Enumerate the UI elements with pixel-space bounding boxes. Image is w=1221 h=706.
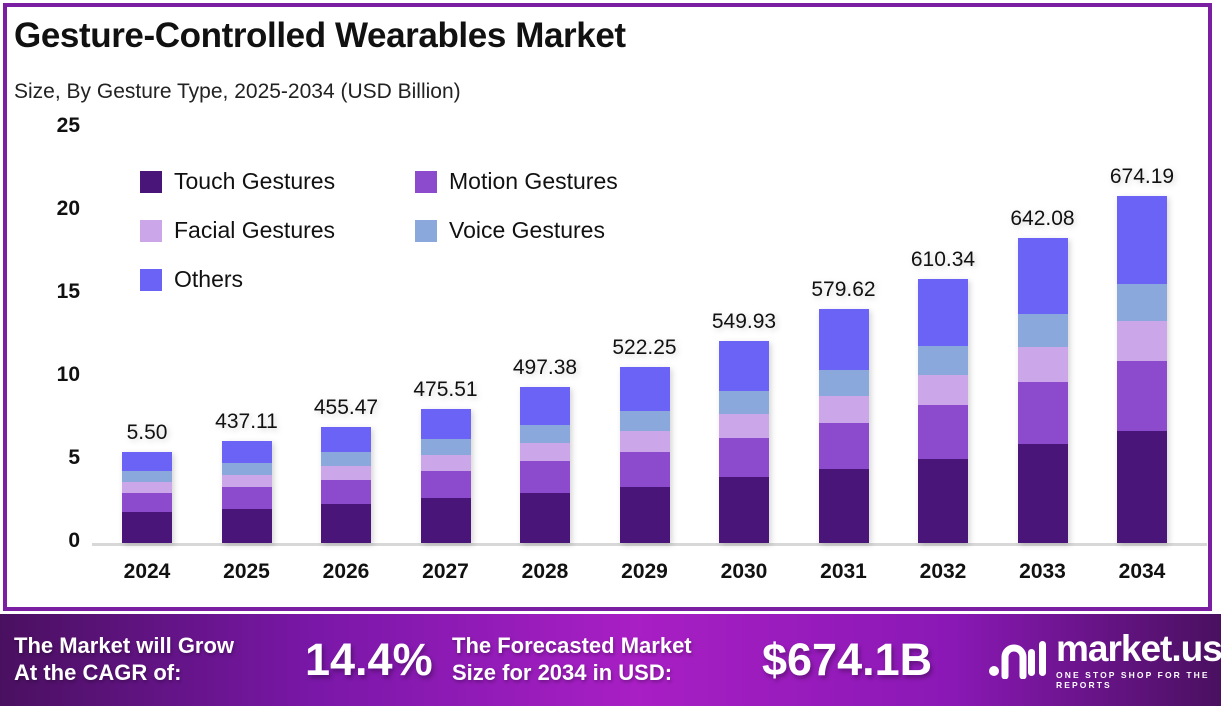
logo-name: market.us [1056,628,1221,669]
bar-segment [421,439,471,455]
bar-segment [620,431,670,452]
legend-row: Touch Gestures Motion Gestures [140,168,700,195]
bar-segment [122,482,172,494]
bar-value-label: 455.47 [314,396,378,420]
bar-segment [122,512,172,543]
x-axis-tick: 2032 [888,560,998,584]
forecast-label: The Forecasted Market Size for 2034 in U… [452,633,692,687]
bar-segment [1018,382,1068,444]
bar-segment [819,469,869,543]
bar-segment [421,409,471,440]
cagr-label-line2: At the CAGR of: [14,660,234,687]
legend-swatch-icon [415,171,437,193]
legend-item-motion-gestures[interactable]: Motion Gestures [415,168,618,195]
bar-segment [719,438,769,478]
bar-value-label: 475.51 [413,378,477,402]
bar-segment [421,498,471,543]
bar-segment [520,387,570,425]
legend-swatch-icon [140,220,162,242]
chart-legend: Touch Gestures Motion Gestures Facial Ge… [140,168,700,315]
bar-value-label: 674.19 [1110,165,1174,189]
bar-value-label: 497.38 [513,356,577,380]
bar-segment [321,504,371,543]
bar-segment [620,452,670,488]
bar-segment [222,509,272,543]
bar-segment [719,341,769,392]
bar-segment [620,487,670,543]
legend-swatch-icon [415,220,437,242]
x-axis-tick: 2033 [988,560,1098,584]
bar-segment [520,461,570,493]
legend-label: Facial Gestures [174,217,335,244]
x-axis-tick: 2031 [789,560,899,584]
bar-segment [222,487,272,509]
bar-stack[interactable]: 610.34 [918,279,968,543]
bar-value-label: 549.93 [712,310,776,334]
bar-segment [1117,321,1167,361]
legend-item-touch-gestures[interactable]: Touch Gestures [140,168,415,195]
legend-row: Facial Gestures Voice Gestures [140,217,700,244]
bar-value-label: 642.08 [1010,207,1074,231]
bar-segment [222,441,272,463]
legend-label: Motion Gestures [449,168,618,195]
cagr-value: 14.4% [305,634,433,686]
legend-item-facial-gestures[interactable]: Facial Gestures [140,217,415,244]
bar-stack[interactable]: 475.51 [421,409,471,543]
bar-value-label: 5.50 [127,421,168,445]
bar-segment [918,459,968,543]
bar-segment [520,425,570,442]
bar-segment [321,466,371,480]
x-axis-tick: 2026 [291,560,401,584]
logo-tagline: ONE STOP SHOP FOR THE REPORTS [1056,670,1221,690]
bar-stack[interactable]: 549.93 [719,341,769,543]
bar-segment [918,405,968,459]
bar-segment [520,443,570,461]
bar-segment [918,346,968,375]
forecast-label-line2: Size for 2034 in USD: [452,660,692,687]
bar-segment [122,493,172,512]
legend-row: Others [140,266,700,293]
y-axis-tick: 10 [20,363,80,387]
bar-stack[interactable]: 5.50 [122,452,172,543]
bar-segment [918,279,968,346]
market-us-logo-text: market.us ONE STOP SHOP FOR THE REPORTS [1056,630,1221,690]
bar-value-label: 610.34 [911,248,975,272]
bar-segment [620,367,670,411]
bar-segment [1018,347,1068,382]
x-axis-tick: 2034 [1087,560,1197,584]
bar-segment [122,471,172,482]
y-axis-tick: 20 [20,197,80,221]
bar-segment [719,414,769,437]
bar-segment [222,463,272,475]
legend-label: Touch Gestures [174,168,335,195]
y-axis-tick: 5 [20,446,80,470]
bar-segment [1117,361,1167,431]
x-axis-tick: 2024 [92,560,202,584]
bar-segment [1018,444,1068,543]
y-axis-tick: 15 [20,280,80,304]
legend-label: Voice Gestures [449,217,605,244]
legend-item-voice-gestures[interactable]: Voice Gestures [415,217,605,244]
market-us-logo[interactable]: market.us ONE STOP SHOP FOR THE REPORTS [988,630,1221,690]
cagr-label: The Market will Grow At the CAGR of: [14,633,234,687]
legend-swatch-icon [140,171,162,193]
bar-stack[interactable]: 437.11 [222,441,272,543]
bar-stack[interactable]: 642.08 [1018,238,1068,543]
bar-segment [719,391,769,414]
bar-stack[interactable]: 455.47 [321,427,371,543]
legend-item-others[interactable]: Others [140,266,415,293]
forecast-value: $674.1B [762,634,932,686]
y-axis-tick: 0 [20,529,80,553]
bar-segment [1018,314,1068,347]
bar-value-label: 579.62 [811,278,875,302]
x-axis-tick: 2027 [391,560,501,584]
bar-segment [421,455,471,471]
chart-infographic: Gesture-Controlled Wearables Market Size… [0,0,1221,706]
bar-segment [321,480,371,504]
bar-stack[interactable]: 522.25 [620,367,670,543]
bar-segment [1117,431,1167,543]
bar-segment [819,423,869,469]
x-axis-line [92,543,1207,546]
x-axis-tick: 2030 [689,560,799,584]
bar-value-label: 522.25 [612,336,676,360]
y-axis-tick: 25 [20,114,80,138]
bar-segment [122,452,172,471]
bar-stack[interactable]: 579.62 [819,309,869,543]
bar-stack[interactable]: 674.19 [1117,196,1167,543]
bar-segment [719,477,769,543]
legend-swatch-icon [140,269,162,291]
bar-segment [1117,196,1167,284]
bar-segment [1018,238,1068,314]
bar-segment [620,411,670,431]
bar-segment [520,493,570,543]
bar-value-label: 437.11 [215,410,278,434]
bar-segment [222,475,272,487]
bar-segment [321,452,371,466]
x-axis-tick: 2025 [192,560,302,584]
legend-label: Others [174,266,243,293]
bar-segment [1117,284,1167,321]
bar-stack[interactable]: 497.38 [520,387,570,543]
bar-segment [421,471,471,498]
bar-segment [321,427,371,452]
bar-segment [819,370,869,396]
footer-banner: The Market will Grow At the CAGR of: 14.… [0,614,1221,706]
bar-segment [918,375,968,405]
x-axis-tick: 2029 [590,560,700,584]
forecast-label-line1: The Forecasted Market [452,633,692,660]
market-us-logo-mark-icon [988,637,1046,684]
cagr-label-line1: The Market will Grow [14,633,234,660]
bar-segment [819,309,869,370]
x-axis-tick: 2028 [490,560,600,584]
bar-segment [819,396,869,423]
